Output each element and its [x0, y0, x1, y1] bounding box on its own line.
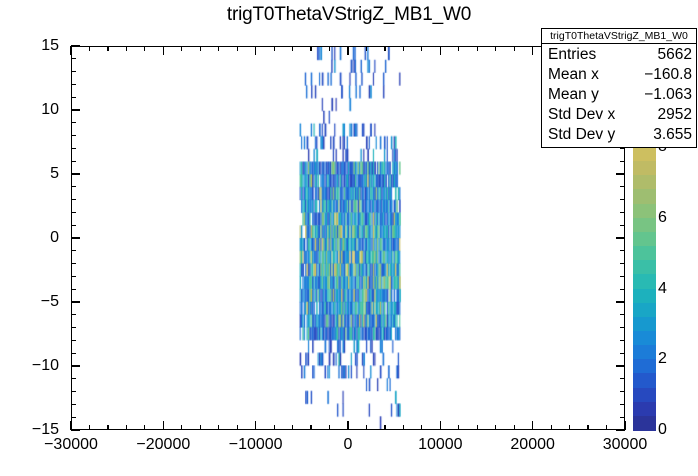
- x-tick-major: [440, 421, 441, 430]
- colorbar-band: [633, 260, 656, 275]
- stats-row-value: −1.063: [644, 85, 692, 105]
- y-tick-major: [71, 109, 80, 110]
- y-tick-label: −5: [0, 293, 59, 311]
- stats-row-key: Std Dev x: [548, 105, 615, 125]
- y-tick-minor: [71, 314, 76, 315]
- stats-box: trigT0ThetaVStrigZ_MB1_W0 Entries5662Mea…: [541, 28, 697, 148]
- x-tick-minor: [421, 425, 422, 430]
- x-tick-label: −20000: [136, 436, 190, 454]
- x-tick-minor: [366, 46, 367, 51]
- x-tick-minor: [421, 46, 422, 51]
- x-tick-major: [347, 421, 348, 430]
- y-tick-minor: [71, 276, 76, 277]
- x-tick-minor: [126, 425, 127, 430]
- x-tick-major: [163, 421, 164, 430]
- y-tick-label: 15: [0, 37, 59, 55]
- x-tick-minor: [144, 46, 145, 51]
- y-tick-minor: [71, 327, 76, 328]
- y-tick-minor: [71, 289, 76, 290]
- colorbar-band: [633, 303, 656, 318]
- x-tick-major: [532, 46, 533, 55]
- colorbar: [633, 147, 656, 430]
- y-tick-major: [71, 173, 80, 174]
- colorbar-band: [633, 246, 656, 261]
- colorbar-band: [633, 402, 656, 417]
- x-tick-minor: [218, 46, 219, 51]
- x-tick-minor: [329, 46, 330, 51]
- x-tick-minor: [181, 425, 182, 430]
- x-tick-label: 30000: [603, 436, 648, 454]
- colorbar-band: [633, 161, 656, 176]
- colorbar-band: [633, 189, 656, 204]
- y-tick-label: 5: [0, 165, 59, 183]
- y-tick-label: 0: [0, 229, 59, 247]
- stats-row-value: 3.655: [653, 125, 692, 145]
- y-tick-minor: [71, 97, 76, 98]
- x-tick-minor: [126, 46, 127, 51]
- stats-row: Std Dev x2952: [548, 105, 692, 125]
- x-tick-minor: [495, 425, 496, 430]
- x-tick-minor: [403, 46, 404, 51]
- y-tick-minor: [71, 148, 76, 149]
- x-tick-major: [440, 46, 441, 55]
- y-tick-label: −10: [0, 357, 59, 375]
- y-tick-minor: [71, 84, 76, 85]
- y-tick-major: [71, 429, 80, 430]
- stats-row: Entries5662: [548, 45, 692, 65]
- x-tick-minor: [200, 425, 201, 430]
- colorbar-band: [633, 204, 656, 219]
- y-tick-minor: [71, 417, 76, 418]
- y-tick-major: [71, 365, 80, 366]
- chart-title: trigT0ThetaVStrigZ_MB1_W0: [0, 4, 698, 26]
- x-tick-minor: [310, 425, 311, 430]
- x-tick-minor: [107, 425, 108, 430]
- x-tick-major: [255, 46, 256, 55]
- x-tick-minor: [89, 46, 90, 51]
- y-tick-major: [71, 237, 80, 238]
- x-tick-label: 0: [344, 436, 353, 454]
- y-tick-minor: [71, 340, 76, 341]
- x-tick-major: [163, 46, 164, 55]
- stats-row: Mean y−1.063: [548, 85, 692, 105]
- x-tick-minor: [495, 46, 496, 51]
- x-tick-minor: [477, 46, 478, 51]
- x-tick-minor: [606, 425, 607, 430]
- colorbar-band: [633, 373, 656, 388]
- stats-row-value: −160.8: [644, 65, 692, 85]
- x-tick-minor: [107, 46, 108, 51]
- x-tick-major: [532, 421, 533, 430]
- y-tick-label: 10: [0, 101, 59, 119]
- colorbar-band: [633, 345, 656, 360]
- colorbar-band: [633, 274, 656, 289]
- stats-row-key: Mean x: [548, 65, 599, 85]
- x-tick-minor: [237, 425, 238, 430]
- x-tick-major: [255, 421, 256, 430]
- stats-row-key: Std Dev y: [548, 125, 615, 145]
- y-tick-major: [71, 301, 80, 302]
- x-tick-minor: [292, 46, 293, 51]
- colorbar-gradient: [633, 147, 656, 430]
- x-tick-minor: [551, 425, 552, 430]
- chart-canvas: trigT0ThetaVStrigZ_MB1_W0 −30000−20000−1…: [0, 0, 698, 476]
- colorbar-band: [633, 416, 656, 431]
- colorbar-band: [633, 331, 656, 346]
- x-tick-minor: [477, 425, 478, 430]
- y-tick-minor: [71, 263, 76, 264]
- colorbar-tick-label: 4: [658, 280, 667, 298]
- y-tick-minor: [71, 135, 76, 136]
- x-tick-minor: [89, 425, 90, 430]
- colorbar-band: [633, 289, 656, 304]
- colorbar-band: [633, 147, 656, 162]
- x-tick-minor: [218, 425, 219, 430]
- y-tick-minor: [71, 71, 76, 72]
- y-tick-minor: [71, 58, 76, 59]
- x-tick-label: 10000: [418, 436, 463, 454]
- y-tick-minor: [71, 250, 76, 251]
- x-tick-minor: [329, 425, 330, 430]
- x-tick-minor: [403, 425, 404, 430]
- y-tick-label: −15: [0, 421, 59, 439]
- x-tick-minor: [458, 46, 459, 51]
- x-tick-minor: [200, 46, 201, 51]
- x-tick-minor: [237, 46, 238, 51]
- colorbar-tick-label: 0: [658, 421, 667, 439]
- x-tick-label: 20000: [510, 436, 555, 454]
- stats-row-value: 5662: [658, 45, 692, 65]
- y-tick-minor: [71, 378, 76, 379]
- x-tick-major: [70, 46, 71, 55]
- x-tick-minor: [514, 46, 515, 51]
- x-tick-minor: [292, 425, 293, 430]
- y-tick-minor: [71, 161, 76, 162]
- y-tick-minor: [71, 199, 76, 200]
- y-tick-minor: [71, 225, 76, 226]
- stats-row-key: Mean y: [548, 85, 599, 105]
- y-tick-minor: [71, 391, 76, 392]
- colorbar-band: [633, 317, 656, 332]
- y-tick-minor: [71, 212, 76, 213]
- y-tick-minor: [71, 122, 76, 123]
- stats-row: Mean x−160.8: [548, 65, 692, 85]
- x-tick-minor: [458, 425, 459, 430]
- x-tick-minor: [181, 46, 182, 51]
- x-tick-minor: [144, 425, 145, 430]
- y-tick-minor: [71, 186, 76, 187]
- colorbar-tick-label: 6: [658, 209, 667, 227]
- y-tick-major: [71, 45, 80, 46]
- x-tick-label: −10000: [229, 436, 283, 454]
- colorbar-axis-line: [624, 147, 625, 430]
- colorbar-tick-label: 2: [658, 350, 667, 368]
- x-tick-minor: [587, 425, 588, 430]
- y-tick-minor: [71, 353, 76, 354]
- colorbar-band: [633, 388, 656, 403]
- colorbar-band: [633, 218, 656, 233]
- stats-row: Std Dev y3.655: [548, 125, 692, 145]
- x-tick-minor: [514, 425, 515, 430]
- colorbar-band: [633, 359, 656, 374]
- x-tick-minor: [366, 425, 367, 430]
- stats-row-key: Entries: [548, 45, 596, 65]
- x-tick-minor: [274, 425, 275, 430]
- y-tick-minor: [71, 404, 76, 405]
- stats-box-header: trigT0ThetaVStrigZ_MB1_W0: [542, 29, 696, 44]
- x-tick-minor: [310, 46, 311, 51]
- colorbar-band: [633, 175, 656, 190]
- x-tick-major: [347, 46, 348, 55]
- colorbar-band: [633, 232, 656, 247]
- x-tick-minor: [384, 46, 385, 51]
- stats-row-value: 2952: [658, 105, 692, 125]
- x-tick-minor: [274, 46, 275, 51]
- x-tick-minor: [569, 425, 570, 430]
- stats-box-rows: Entries5662Mean x−160.8Mean y−1.063Std D…: [542, 44, 696, 147]
- x-tick-minor: [384, 425, 385, 430]
